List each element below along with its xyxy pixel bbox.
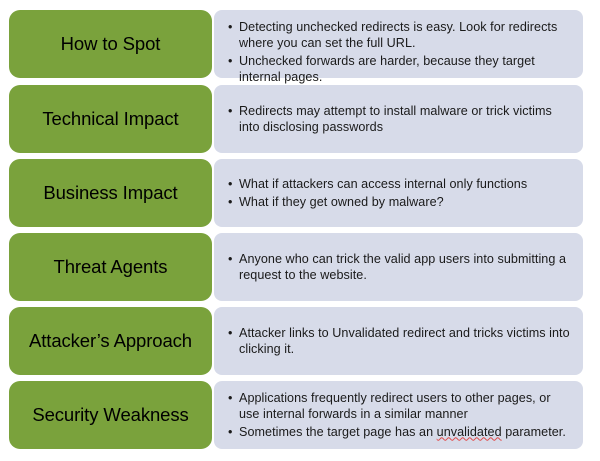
list-item-text: What if they get owned by malware? — [239, 195, 444, 209]
list-item-text: Attacker links to Unvalidated redirect a… — [239, 326, 570, 356]
bullet-list: •Attacker links to Unvalidated redirect … — [228, 325, 573, 358]
list-item: •Anyone who can trick the valid app user… — [228, 251, 573, 284]
text-before: Sometimes the target page has an — [239, 425, 437, 439]
list-item-text: Redirects may attempt to install malware… — [239, 104, 552, 134]
row-label-text: Security Weakness — [32, 405, 188, 426]
bullet-dot-icon: • — [228, 53, 232, 69]
bullet-list: •Anyone who can trick the valid app user… — [228, 251, 573, 284]
row-content-box-technical-impact[interactable]: •Redirects may attempt to install malwar… — [214, 85, 583, 153]
bullet-dot-icon: • — [228, 251, 232, 267]
bullet-dot-icon: • — [228, 103, 232, 119]
diagram-row: Technical Impact •Redirects may attempt … — [0, 85, 600, 153]
diagram-row: Business Impact •What if attackers can a… — [0, 159, 600, 227]
row-label-text: How to Spot — [61, 34, 161, 55]
misspelled-word: unvalidated — [437, 425, 502, 439]
list-item-text: What if attackers can access internal on… — [239, 177, 527, 191]
list-item: •Redirects may attempt to install malwar… — [228, 103, 573, 136]
diagram-container: How to Spot •Detecting unchecked redirec… — [0, 0, 600, 461]
list-item: •Detecting unchecked redirects is easy. … — [228, 19, 573, 52]
row-label-box-how-to-spot[interactable]: How to Spot — [9, 10, 212, 78]
list-item: •What if attackers can access internal o… — [228, 176, 573, 192]
row-label-box-technical-impact[interactable]: Technical Impact — [9, 85, 212, 153]
list-item: •What if they get owned by malware? — [228, 194, 573, 210]
row-label-box-business-impact[interactable]: Business Impact — [9, 159, 212, 227]
diagram-row: Threat Agents •Anyone who can trick the … — [0, 233, 600, 301]
list-item: •Applications frequently redirect users … — [228, 390, 573, 423]
bullet-list: •What if attackers can access internal o… — [228, 176, 573, 210]
diagram-row: Security Weakness •Applications frequent… — [0, 381, 600, 449]
bullet-dot-icon: • — [228, 424, 232, 440]
row-content-box-how-to-spot[interactable]: •Detecting unchecked redirects is easy. … — [214, 10, 583, 78]
diagram-row: Attacker’s Approach •Attacker links to U… — [0, 307, 600, 375]
text-after: parameter. — [502, 425, 566, 439]
list-item-text: Unchecked forwards are harder, because t… — [239, 54, 535, 84]
bullet-dot-icon: • — [228, 176, 232, 192]
row-label-text: Technical Impact — [42, 109, 178, 130]
list-item: •Unchecked forwards are harder, because … — [228, 53, 573, 86]
bullet-dot-icon: • — [228, 19, 232, 35]
list-item: •Attacker links to Unvalidated redirect … — [228, 325, 573, 358]
row-content-box-attackers-approach[interactable]: •Attacker links to Unvalidated redirect … — [214, 307, 583, 375]
list-item-text: Applications frequently redirect users t… — [239, 391, 551, 421]
row-label-text: Threat Agents — [54, 257, 168, 278]
bullet-dot-icon: • — [228, 325, 232, 341]
row-content-box-security-weakness[interactable]: •Applications frequently redirect users … — [214, 381, 583, 449]
diagram-row: How to Spot •Detecting unchecked redirec… — [0, 10, 600, 78]
bullet-list: •Applications frequently redirect users … — [228, 390, 573, 440]
row-label-text: Business Impact — [43, 183, 177, 204]
list-item-text: Detecting unchecked redirects is easy. L… — [239, 20, 557, 50]
row-label-text: Attacker’s Approach — [29, 331, 192, 352]
row-content-box-business-impact[interactable]: •What if attackers can access internal o… — [214, 159, 583, 227]
bullet-dot-icon: • — [228, 194, 232, 210]
row-label-box-threat-agents[interactable]: Threat Agents — [9, 233, 212, 301]
list-item: •Sometimes the target page has an unvali… — [228, 424, 573, 440]
bullet-list: •Redirects may attempt to install malwar… — [228, 103, 573, 136]
row-label-box-security-weakness[interactable]: Security Weakness — [9, 381, 212, 449]
list-item-text-composite: Sometimes the target page has an unvalid… — [239, 425, 566, 439]
row-label-box-attackers-approach[interactable]: Attacker’s Approach — [9, 307, 212, 375]
list-item-text: Anyone who can trick the valid app users… — [239, 252, 566, 282]
row-content-box-threat-agents[interactable]: •Anyone who can trick the valid app user… — [214, 233, 583, 301]
bullet-list: •Detecting unchecked redirects is easy. … — [228, 19, 573, 85]
bullet-dot-icon: • — [228, 390, 232, 406]
